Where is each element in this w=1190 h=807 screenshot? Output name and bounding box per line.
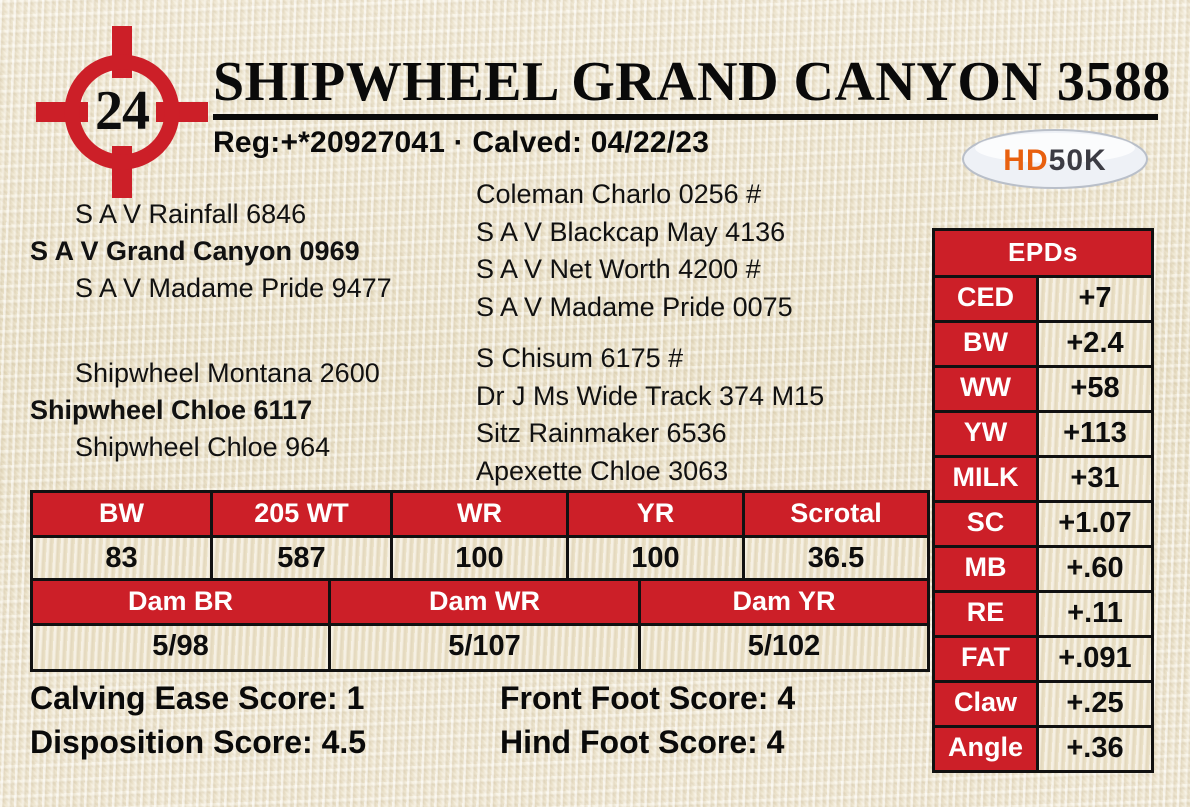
pedigree-sire-dam: S A V Madame Pride 9477 bbox=[30, 270, 470, 307]
performance-value-row: 83 587 100 100 36.5 bbox=[33, 538, 927, 581]
calving-ease-score: Calving Ease Score: 1 bbox=[30, 676, 500, 720]
scores-block: Calving Ease Score: 1 Front Foot Score: … bbox=[30, 676, 930, 764]
epd-trait-ced: CED bbox=[935, 278, 1039, 320]
epd-trait-ww: WW bbox=[935, 368, 1039, 410]
pedigree-ancestor-6: Dr J Ms Wide Track 374 M15 bbox=[476, 378, 926, 416]
epd-value-mb: +.60 bbox=[1039, 548, 1151, 590]
epd-value-bw: +2.4 bbox=[1039, 323, 1151, 365]
epd-row-yw: YW +113 bbox=[935, 413, 1151, 458]
epd-value-ced: +7 bbox=[1039, 278, 1151, 320]
epd-trait-re: RE bbox=[935, 593, 1039, 635]
pedigree-ancestor-1: Coleman Charlo 0256 # bbox=[476, 176, 926, 214]
svg-text:HD50K: HD50K bbox=[1003, 144, 1106, 177]
dam-header-row: Dam BR Dam WR Dam YR bbox=[33, 581, 927, 626]
hind-foot-score: Hind Foot Score: 4 bbox=[500, 720, 920, 764]
epd-row-mb: MB +.60 bbox=[935, 548, 1151, 593]
epd-trait-bw: BW bbox=[935, 323, 1039, 365]
epd-row-milk: MILK +31 bbox=[935, 458, 1151, 503]
epds-title: EPDs bbox=[935, 231, 1151, 278]
epd-value-milk: +31 bbox=[1039, 458, 1151, 500]
perf-value-bw: 83 bbox=[33, 538, 213, 581]
epd-value-sc: +1.07 bbox=[1039, 503, 1151, 545]
epd-trait-mb: MB bbox=[935, 548, 1039, 590]
header-divider bbox=[213, 114, 1158, 120]
epd-value-claw: +.25 bbox=[1039, 683, 1151, 725]
performance-header-row: BW 205 WT WR YR Scrotal bbox=[33, 493, 927, 538]
epd-row-re: RE +.11 bbox=[935, 593, 1151, 638]
epd-row-bw: BW +2.4 bbox=[935, 323, 1151, 368]
performance-table: BW 205 WT WR YR Scrotal 83 587 100 100 3… bbox=[30, 490, 930, 584]
perf-header-yr: YR bbox=[569, 493, 745, 535]
pedigree-sire-sire: S A V Rainfall 6846 bbox=[30, 196, 470, 233]
pedigree-sire: S A V Grand Canyon 0969 bbox=[30, 233, 470, 270]
pedigree-spacer bbox=[30, 307, 470, 355]
pedigree-dam: Shipwheel Chloe 6117 bbox=[30, 392, 470, 429]
dam-value-br: 5/98 bbox=[33, 626, 331, 669]
epd-row-ww: WW +58 bbox=[935, 368, 1151, 413]
dam-value-yr: 5/102 bbox=[641, 626, 927, 669]
scores-row-2: Disposition Score: 4.5 Hind Foot Score: … bbox=[30, 720, 930, 764]
epd-value-yw: +113 bbox=[1039, 413, 1151, 455]
epd-value-fat: +.091 bbox=[1039, 638, 1151, 680]
perf-value-wr: 100 bbox=[393, 538, 569, 581]
epd-row-ced: CED +7 bbox=[935, 278, 1151, 323]
pedigree-ancestor-7: Sitz Rainmaker 6536 bbox=[476, 415, 926, 453]
pedigree-ancestor-3: S A V Net Worth 4200 # bbox=[476, 251, 926, 289]
epd-value-angle: +.36 bbox=[1039, 728, 1151, 770]
epd-trait-angle: Angle bbox=[935, 728, 1039, 770]
pedigree-ancestor-4: S A V Madame Pride 0075 bbox=[476, 289, 926, 327]
epd-row-angle: Angle +.36 bbox=[935, 728, 1151, 770]
epd-row-sc: SC +1.07 bbox=[935, 503, 1151, 548]
epd-trait-sc: SC bbox=[935, 503, 1039, 545]
pedigree-left-column: S A V Rainfall 6846 S A V Grand Canyon 0… bbox=[30, 196, 470, 466]
perf-header-scrotal: Scrotal bbox=[745, 493, 927, 535]
dam-ratio-table: Dam BR Dam WR Dam YR 5/98 5/107 5/102 bbox=[30, 578, 930, 672]
pedigree-dam-dam: Shipwheel Chloe 964 bbox=[30, 429, 470, 466]
dam-value-wr: 5/107 bbox=[331, 626, 641, 669]
front-foot-score: Front Foot Score: 4 bbox=[500, 676, 920, 720]
hd50k-badge-icon: HD50K bbox=[960, 128, 1150, 190]
disposition-score: Disposition Score: 4.5 bbox=[30, 720, 500, 764]
epd-trait-milk: MILK bbox=[935, 458, 1039, 500]
epd-value-ww: +58 bbox=[1039, 368, 1151, 410]
epds-table: EPDs CED +7 BW +2.4 WW +58 YW +113 MILK … bbox=[932, 228, 1154, 773]
pedigree-ancestor-8: Apexette Chloe 3063 bbox=[476, 453, 926, 491]
pedigree-spacer-2 bbox=[476, 326, 926, 340]
perf-value-yr: 100 bbox=[569, 538, 745, 581]
perf-header-bw: BW bbox=[33, 493, 213, 535]
perf-value-scrotal: 36.5 bbox=[745, 538, 927, 581]
dam-value-row: 5/98 5/107 5/102 bbox=[33, 626, 927, 669]
epd-row-claw: Claw +.25 bbox=[935, 683, 1151, 728]
epd-trait-fat: FAT bbox=[935, 638, 1039, 680]
epd-value-re: +.11 bbox=[1039, 593, 1151, 635]
dam-header-br: Dam BR bbox=[33, 581, 331, 623]
pedigree-ancestor-5: S Chisum 6175 # bbox=[476, 340, 926, 378]
scores-row-1: Calving Ease Score: 1 Front Foot Score: … bbox=[30, 676, 930, 720]
animal-name-title: SHIPWHEEL GRAND CANYON 3588 bbox=[213, 52, 1163, 112]
epd-trait-claw: Claw bbox=[935, 683, 1039, 725]
pedigree-ancestor-2: S A V Blackcap May 4136 bbox=[476, 214, 926, 252]
perf-value-205wt: 587 bbox=[213, 538, 393, 581]
lot-number-text: 24 bbox=[36, 26, 208, 198]
pedigree-right-column: Coleman Charlo 0256 # S A V Blackcap May… bbox=[476, 176, 926, 490]
epd-row-fat: FAT +.091 bbox=[935, 638, 1151, 683]
epd-trait-yw: YW bbox=[935, 413, 1039, 455]
dam-header-wr: Dam WR bbox=[331, 581, 641, 623]
perf-header-205wt: 205 WT bbox=[213, 493, 393, 535]
lot-page: 24 SHIPWHEEL GRAND CANYON 3588 Reg:+*209… bbox=[0, 0, 1190, 807]
dam-header-yr: Dam YR bbox=[641, 581, 927, 623]
perf-header-wr: WR bbox=[393, 493, 569, 535]
hd50k-logo: HD50K bbox=[960, 128, 1150, 190]
lot-number-badge: 24 bbox=[36, 26, 208, 198]
pedigree-dam-sire: Shipwheel Montana 2600 bbox=[30, 355, 470, 392]
